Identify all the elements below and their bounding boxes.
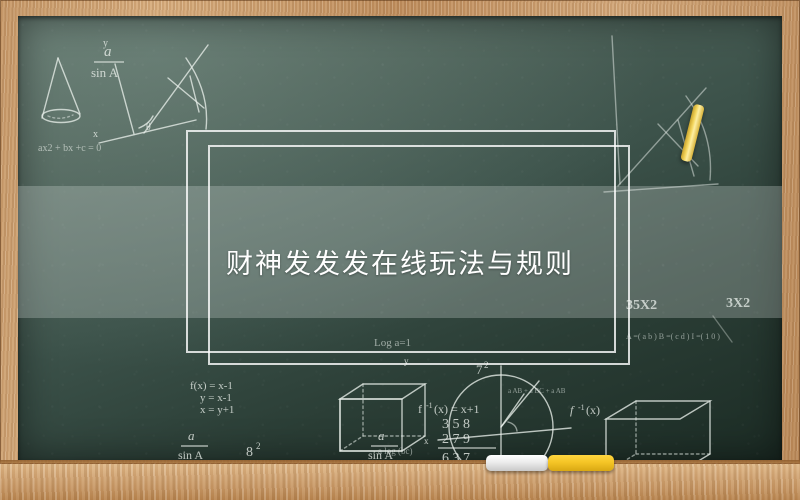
svg-text:sin A: sin A bbox=[178, 448, 203, 460]
svg-text:2 7 9: 2 7 9 bbox=[442, 432, 470, 447]
svg-text:(x) = x+1: (x) = x+1 bbox=[434, 402, 480, 416]
svg-text:8: 8 bbox=[246, 445, 253, 460]
chalk-stick-yellow-tray bbox=[548, 455, 614, 471]
svg-text:y: y bbox=[103, 38, 108, 49]
svg-text:sin A: sin A bbox=[91, 65, 119, 80]
chalk-text-topleft: a sin A y x θ ax2 + bx +c = 0 bbox=[38, 38, 151, 154]
svg-text:A =( a b ) B =( c d ) I =( 1: A =( a b ) B =( c d ) I =( 1 0 ) bbox=[626, 332, 720, 341]
svg-text:f(x) = x-1: f(x) = x-1 bbox=[190, 380, 233, 392]
chalk-fractions-bottom: a sin A 8 2 a sin A bbox=[178, 428, 398, 460]
chalk-tray bbox=[0, 463, 800, 500]
angle-diagram-topleft bbox=[99, 45, 208, 143]
cube-figure-right bbox=[606, 401, 710, 460]
svg-text:ax2 + bx +c = 0: ax2 + bx +c = 0 bbox=[38, 143, 101, 154]
chalkboard-surface: a sin A y x θ ax2 + bx +c = 0 f(x) = x-1… bbox=[18, 16, 782, 460]
svg-text:x = y+1: x = y+1 bbox=[200, 404, 234, 416]
svg-text:6 3 7: 6 3 7 bbox=[442, 451, 470, 460]
svg-text:35X2: 35X2 bbox=[626, 298, 657, 313]
svg-text:θ: θ bbox=[146, 122, 151, 133]
cone-figure bbox=[42, 58, 80, 123]
svg-text:-1: -1 bbox=[426, 401, 433, 410]
svg-text:2: 2 bbox=[256, 441, 261, 451]
svg-text:x: x bbox=[424, 436, 429, 446]
chalk-stick-white-tray bbox=[486, 455, 548, 471]
svg-text:f: f bbox=[418, 402, 422, 416]
svg-text:f: f bbox=[570, 403, 575, 417]
svg-text:3 5 8: 3 5 8 bbox=[442, 417, 470, 432]
page-title: 财神发发发在线玩法与规则 bbox=[18, 242, 782, 281]
svg-text:x: x bbox=[93, 129, 98, 140]
chalkboard-banner: a sin A y x θ ax2 + bx +c = 0 f(x) = x-1… bbox=[0, 0, 800, 500]
svg-text:a: a bbox=[188, 428, 195, 443]
svg-text:a: a bbox=[378, 428, 385, 443]
svg-text:y = x-1: y = x-1 bbox=[200, 392, 232, 404]
svg-text:3X2: 3X2 bbox=[726, 296, 750, 311]
svg-text:a log (bc): a log (bc) bbox=[378, 446, 412, 456]
svg-text:-1: -1 bbox=[578, 403, 585, 412]
chalk-text-center: f(x) = x-1 y = x-1 x = y+1 7 2 a AB + a … bbox=[190, 360, 600, 417]
svg-text:a AB + a BC + a AB: a AB + a BC + a AB bbox=[508, 387, 566, 395]
svg-text:(x): (x) bbox=[586, 403, 600, 417]
